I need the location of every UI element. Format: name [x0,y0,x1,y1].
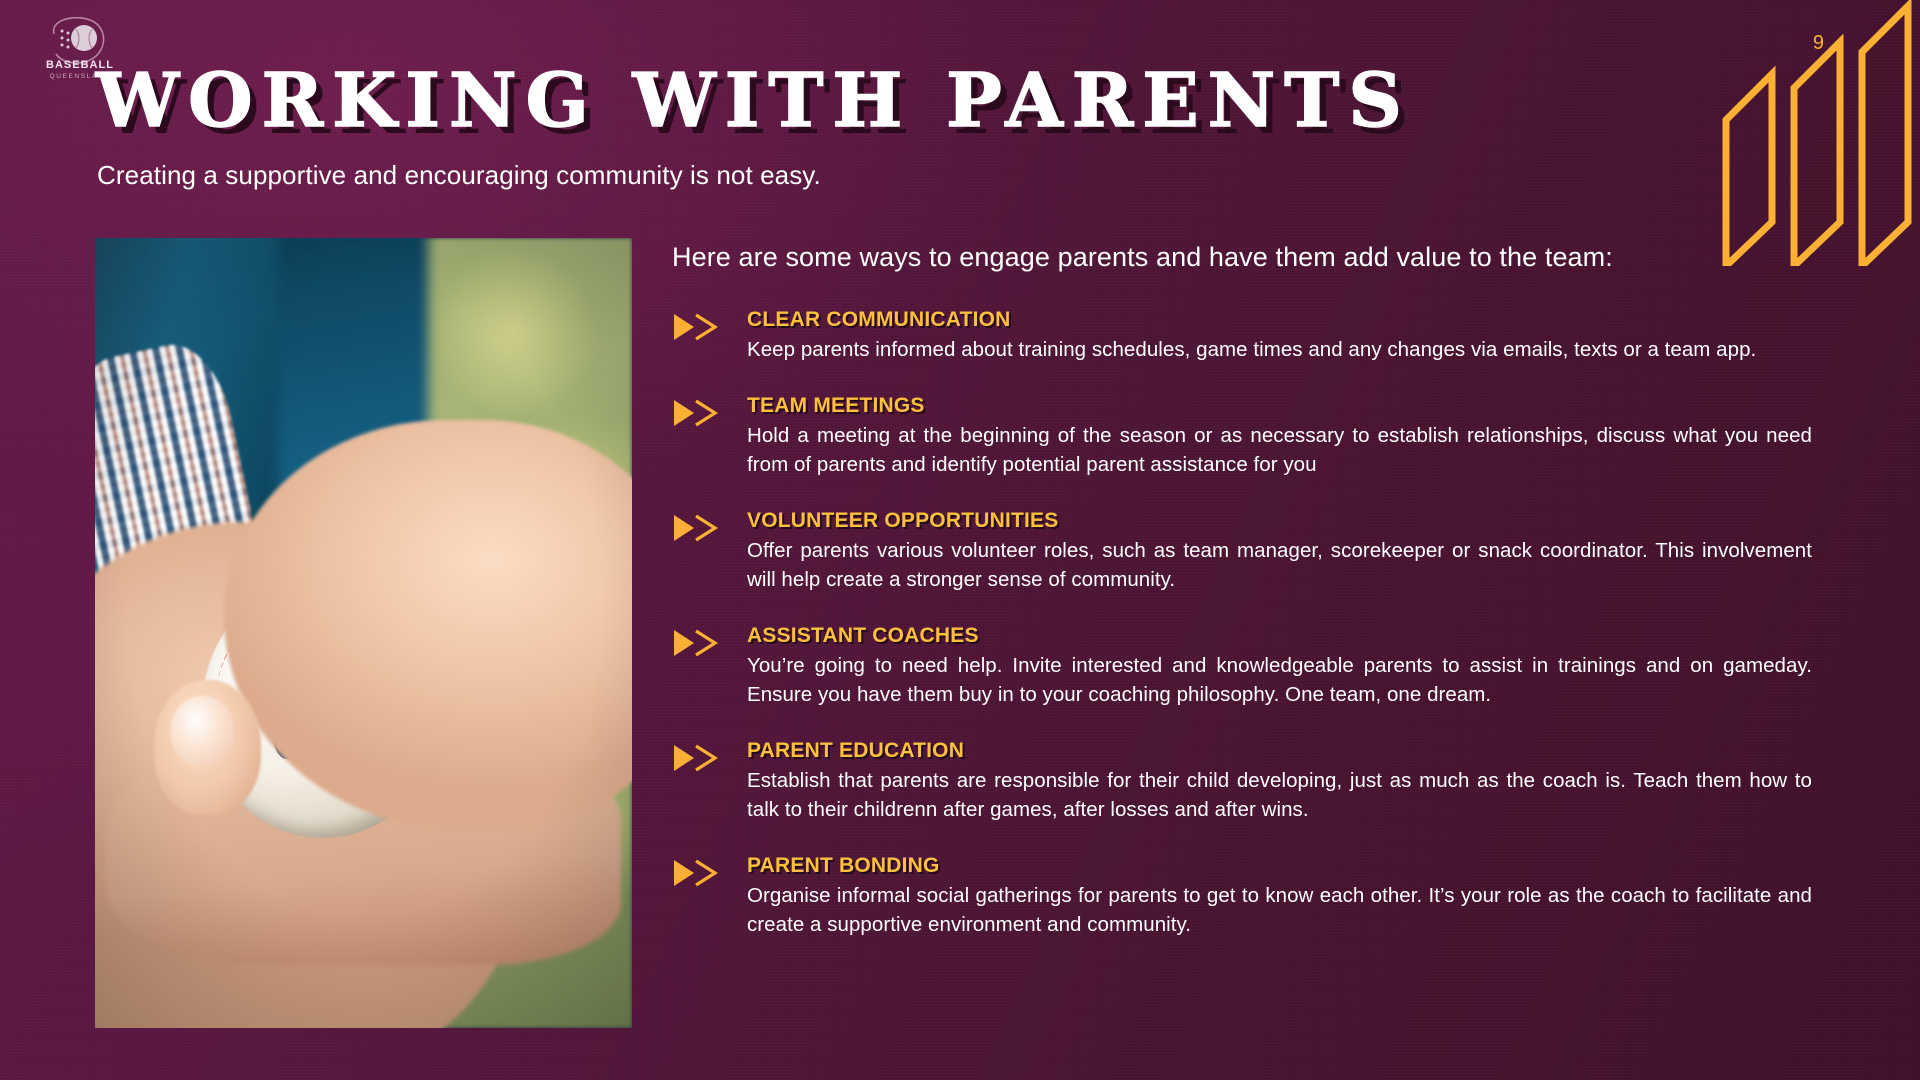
double-chevron-icon [672,513,720,543]
gold-chevron-decoration [1650,0,1920,266]
bullet-body: Keep parents informed about training sch… [747,335,1812,365]
bullet-body: Offer parents various volunteer roles, s… [747,536,1812,595]
double-chevron-icon [672,628,720,658]
baseball-photo: SOLID CORK [95,238,632,1028]
list-item: VOLUNTEER OPPORTUNITIES Offer parents va… [672,509,1812,595]
bullet-list: CLEAR COMMUNICATION Keep parents informe… [672,308,1812,940]
slide: BASEBALL QUEENSLAND 9 WORKING WITH PAREN… [0,0,1920,1080]
page-title: WORKING WITH PARENTS [96,64,1411,138]
list-item: PARENT BONDING Organise informal social … [672,854,1812,940]
double-chevron-icon [672,743,720,773]
bullet-title: VOLUNTEER OPPORTUNITIES [747,509,1812,533]
bullet-body: You’re going to need help. Invite intere… [747,651,1812,710]
bullet-body: Establish that parents are responsible f… [747,766,1812,825]
list-item: CLEAR COMMUNICATION Keep parents informe… [672,308,1812,365]
bullet-body: Hold a meeting at the beginning of the s… [747,421,1812,480]
list-item: PARENT EDUCATION Establish that parents … [672,739,1812,825]
list-item: ASSISTANT COACHES You’re going to need h… [672,624,1812,710]
bullet-title: CLEAR COMMUNICATION [747,308,1812,332]
list-item: TEAM MEETINGS Hold a meeting at the begi… [672,394,1812,480]
double-chevron-icon [672,858,720,888]
bullet-title: PARENT BONDING [747,854,1812,878]
bullet-body: Organise informal social gatherings for … [747,881,1812,940]
page-number: 9 [1813,32,1824,55]
bullet-title: PARENT EDUCATION [747,739,1812,763]
bullet-title: ASSISTANT COACHES [747,624,1812,648]
intro-text: Here are some ways to engage parents and… [672,242,1613,273]
bullet-title: TEAM MEETINGS [747,394,1812,418]
page-subtitle: Creating a supportive and encouraging co… [97,160,821,191]
photo-vignette [95,238,632,1028]
double-chevron-icon [672,312,720,342]
double-chevron-icon [672,398,720,428]
